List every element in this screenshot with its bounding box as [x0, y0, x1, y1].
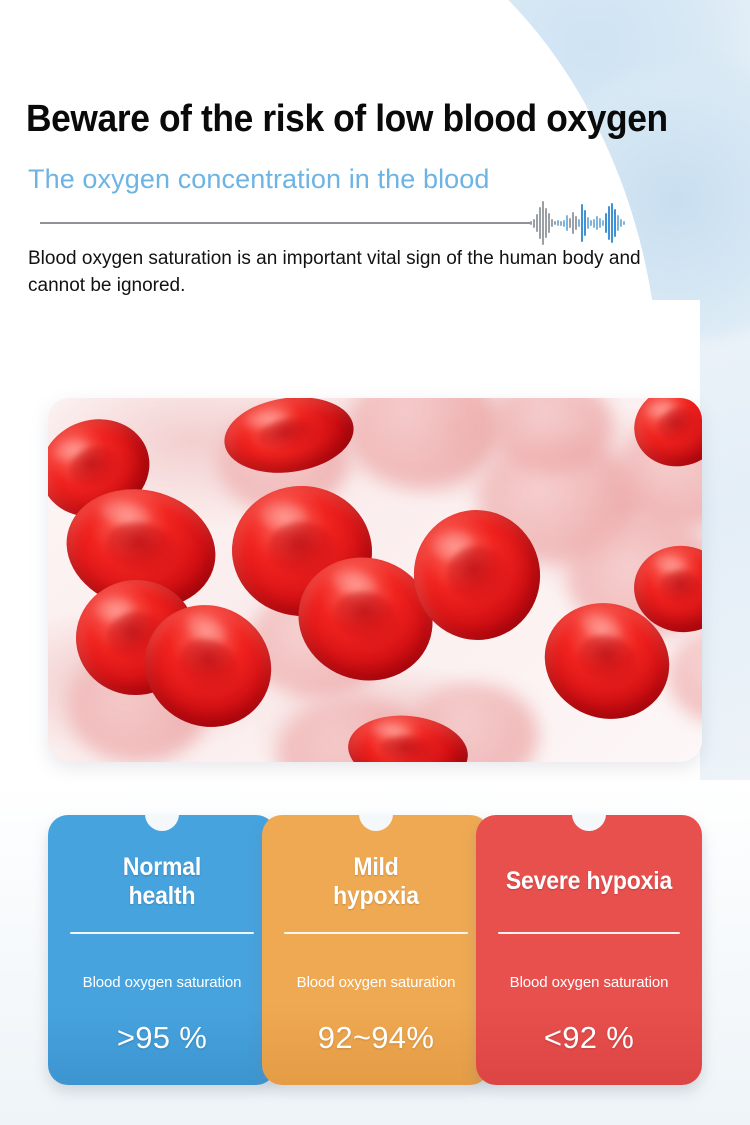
intro-paragraph: Blood oxygen saturation is an important … — [28, 245, 676, 299]
waveform-bar — [557, 220, 559, 226]
waveform-bar — [548, 213, 550, 233]
waveform-bar — [587, 217, 589, 229]
waveform-bar — [602, 220, 604, 226]
waveform-bar — [605, 213, 607, 233]
waveform-bar — [560, 221, 562, 226]
card-notch — [572, 814, 606, 831]
card-divider — [284, 932, 468, 934]
card-value: >95 % — [48, 1020, 276, 1056]
waveform-bar — [572, 212, 574, 234]
card-mild-hypoxia[interactable]: MildhypoxiaBlood oxygen saturation92~94% — [262, 815, 490, 1085]
waveform-bar — [608, 206, 610, 240]
waveform-bar — [569, 218, 571, 228]
waveform-bar — [551, 219, 553, 227]
page-title: Beware of the risk of low blood oxygen — [26, 97, 668, 141]
card-value: <92 % — [476, 1020, 702, 1056]
card-caption: Blood oxygen saturation — [48, 973, 276, 992]
waveform-bar — [581, 204, 583, 242]
waveform-bar — [545, 208, 547, 238]
card-notch — [359, 814, 393, 831]
divider-line — [40, 222, 532, 224]
card-value: 92~94% — [262, 1020, 490, 1056]
waveform-bar — [533, 219, 535, 228]
blurred-blood-cell — [348, 398, 498, 488]
blurred-blood-cell — [668, 628, 702, 723]
waveform-bar — [575, 216, 577, 230]
page-subtitle: The oxygen concentration in the blood — [28, 162, 490, 196]
waveform-bar — [542, 201, 544, 245]
waveform-bar — [590, 220, 592, 226]
photo-background — [48, 398, 702, 762]
card-caption: Blood oxygen saturation — [262, 973, 490, 992]
severity-card-row: NormalhealthBlood oxygen saturation>95 %… — [0, 815, 750, 1100]
waveform-bar — [566, 215, 568, 231]
card-divider — [70, 932, 254, 934]
waveform-bar — [554, 221, 556, 225]
card-normal-health[interactable]: NormalhealthBlood oxygen saturation>95 % — [48, 815, 276, 1085]
waveform-bar — [530, 221, 532, 225]
infographic-page: Beware of the risk of low blood oxygen T… — [0, 0, 750, 1125]
card-severe-hypoxia[interactable]: Severe hypoxiaBlood oxygen saturation<92… — [476, 815, 702, 1085]
card-title: Severe hypoxia — [485, 867, 693, 896]
waveform-bar — [599, 218, 601, 228]
waveform-bar — [617, 215, 619, 231]
waveform-bar — [596, 216, 598, 230]
waveform-bar — [578, 219, 580, 227]
waveform-bar — [611, 203, 613, 243]
card-title: Normalhealth — [57, 853, 267, 911]
waveform-bar — [623, 221, 625, 225]
waveform-bar — [593, 219, 595, 228]
waveform-bar — [584, 210, 586, 236]
card-title: Mildhypoxia — [271, 853, 481, 911]
waveform-bar — [614, 209, 616, 237]
waveform-bar — [539, 207, 541, 239]
waveform-bar — [536, 214, 538, 232]
divider-with-waveform — [30, 200, 630, 246]
card-caption: Blood oxygen saturation — [476, 973, 702, 992]
card-divider — [498, 932, 680, 934]
card-notch — [145, 814, 179, 831]
audio-waveform-icon — [530, 200, 648, 246]
red-blood-cells-photo — [48, 398, 702, 762]
waveform-bar — [620, 219, 622, 227]
waveform-bar — [563, 220, 565, 227]
